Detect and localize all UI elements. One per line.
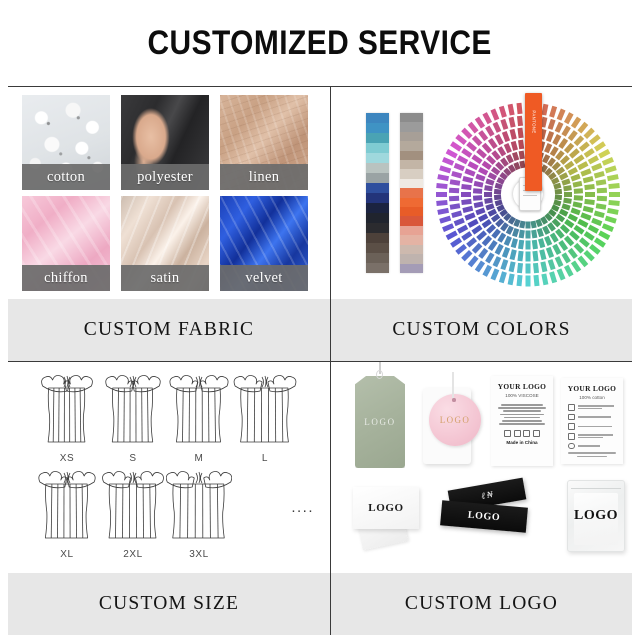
fan-chip [462, 205, 473, 212]
dress-figure-XL [34, 468, 100, 546]
ribbon-label: LOGO [467, 510, 500, 524]
polybag-label: LOGO [574, 508, 618, 524]
fan-chip [580, 168, 591, 176]
color-chip-right-6 [400, 169, 423, 178]
fabric-swatch-linen[interactable]: linen [220, 95, 308, 190]
fan-chip [526, 221, 531, 228]
fan-chip [563, 185, 572, 191]
fan-chip [442, 156, 454, 165]
fan-chip [541, 273, 548, 285]
fan-chip [500, 118, 508, 129]
fan-chip [451, 210, 462, 217]
size-caption-label: CUSTOM SIZE [99, 593, 239, 615]
fabric-caption-band: CUSTOM FABRIC [8, 299, 330, 361]
size-panel-body: XSSML XL2XL3XL .... [8, 362, 330, 574]
fan-chip [473, 195, 482, 201]
panel-custom-size: XSSML XL2XL3XL .... CUSTOM SIZE [8, 361, 330, 635]
fabric-label-band: polyester [121, 164, 209, 190]
color-chip-right-11 [400, 216, 423, 225]
fabric-swatch-velvet[interactable]: velvet [220, 196, 308, 291]
color-chip-right-0 [400, 113, 423, 122]
color-chip-left-5 [366, 163, 389, 173]
fan-chip [519, 229, 525, 238]
panel-custom-fabric: cottonpolyesterlinenchiffonsatinvelvet C… [8, 87, 330, 361]
color-chip-left-6 [366, 173, 389, 183]
size-more-indicator: .... [291, 499, 314, 516]
fan-chip [454, 162, 465, 170]
fan-chip [607, 174, 619, 181]
fan-chip [461, 192, 471, 197]
care-label-1-subtitle: 100% VISCOSE [495, 393, 549, 398]
hangtag-green: LOGO [355, 376, 405, 468]
fan-chip [494, 194, 501, 200]
fabric-name-text: velvet [245, 270, 282, 287]
fan-chip [526, 275, 531, 286]
hangtag-hole-icon [376, 370, 383, 379]
size-option-M[interactable]: M [166, 372, 232, 464]
fan-chip [516, 274, 522, 285]
no-bleach-icon [568, 414, 575, 421]
fan-chip [461, 198, 472, 204]
fan-chip [526, 251, 531, 261]
ribbon-script-mark: ℓ ₦ [480, 489, 493, 501]
dress-figure-2XL [100, 468, 166, 546]
color-chip-right-7 [400, 179, 423, 188]
dry-clean-icon [568, 443, 575, 450]
color-chip-left-14 [366, 253, 389, 263]
fan-chip [609, 192, 620, 197]
fan-chip [563, 197, 572, 203]
fan-chip [517, 127, 523, 138]
fabric-label-band: velvet [220, 265, 308, 291]
black-ribbon-bottom: LOGO [440, 500, 528, 532]
roundtag-string [452, 372, 454, 398]
logo-caption-band: CUSTOM LOGO [331, 573, 632, 635]
care-label-2-title: YOUR LOGO [565, 384, 619, 393]
color-chip-left-3 [366, 143, 389, 153]
fan-chip [509, 261, 516, 272]
fan-chip [555, 194, 562, 200]
size-option-L[interactable]: L [232, 372, 298, 464]
care-label-1-origin: Made in China [495, 440, 549, 445]
fan-chip [437, 207, 449, 214]
size-label-text: XL [34, 549, 100, 560]
care-label-cotton: YOUR LOGO 100% cotton [561, 378, 623, 464]
fan-chip [573, 201, 583, 208]
fabric-swatch-polyester[interactable]: polyester [121, 95, 209, 190]
fan-chip [540, 261, 547, 272]
fabric-name-text: polyester [137, 169, 193, 186]
fan-chip [482, 264, 492, 276]
color-chip-left-4 [366, 153, 389, 163]
panel-custom-logo: LOGO LOGO YOUR LOGO 100% VISCOSE [330, 361, 632, 635]
fan-chip [549, 105, 557, 117]
fan-chip [499, 105, 507, 117]
fabric-name-text: linen [249, 169, 280, 186]
fan-chip [510, 128, 517, 139]
fan-chip [541, 103, 548, 115]
fan-chip [526, 230, 531, 238]
color-chip-left-9 [366, 203, 389, 213]
logo-branding-illustration: LOGO LOGO YOUR LOGO 100% VISCOSE [331, 362, 632, 574]
color-chip-right-15 [400, 254, 423, 263]
fabric-swatch-satin[interactable]: satin [121, 196, 209, 291]
color-chip-left-1 [366, 123, 389, 133]
fan-chip [539, 249, 546, 260]
iron-icon [568, 433, 575, 440]
roundtag-hole-icon [452, 398, 456, 402]
size-row-2: XL2XL3XL [34, 468, 232, 560]
fan-chip [597, 195, 607, 201]
fan-chip [482, 112, 492, 124]
envelope-label: LOGO [368, 502, 403, 514]
logo-caption-label: CUSTOM LOGO [405, 593, 558, 615]
fabric-swatch-grid: cottonpolyesterlinenchiffonsatinvelvet [22, 95, 316, 293]
size-chart-illustration: XSSML XL2XL3XL .... [8, 362, 330, 574]
color-swatch-strip-left [366, 113, 389, 273]
color-chip-left-11 [366, 223, 389, 233]
color-chip-left-0 [366, 113, 389, 123]
size-option-2XL[interactable]: 2XL [100, 468, 166, 560]
fan-chip [509, 116, 516, 127]
poly-bag-packaging: LOGO [567, 480, 625, 552]
fan-chip [605, 215, 617, 223]
fan-chip [518, 239, 524, 249]
service-panel-grid: cottonpolyesterlinenchiffonsatinvelvet C… [8, 86, 632, 634]
colors-caption-band: CUSTOM COLORS [331, 299, 632, 361]
fan-chip [511, 140, 518, 150]
color-chip-right-8 [400, 188, 423, 197]
fan-chip [585, 192, 595, 197]
care-label-2-instructions [565, 404, 619, 449]
fan-chip [549, 271, 557, 283]
fan-chip [439, 215, 451, 223]
fan-chip [449, 187, 459, 193]
fan-chip [608, 182, 619, 188]
color-chip-right-4 [400, 151, 423, 160]
fan-chip [510, 249, 517, 260]
size-row-1: XSSML [34, 372, 298, 464]
page-header: CUSTOMIZED SERVICE [0, 0, 640, 86]
fan-chip [508, 103, 515, 115]
customized-service-infographic: CUSTOMIZED SERVICE cottonpolyesterlinenc… [0, 0, 640, 640]
color-swatch-strip-right [400, 113, 423, 273]
size-caption-band: CUSTOM SIZE [8, 573, 330, 635]
color-chip-right-5 [400, 160, 423, 169]
roundtag-pink: LOGO [429, 394, 481, 446]
colors-panel-body: PANTONE [331, 87, 632, 299]
dress-figure-M [166, 372, 232, 450]
fan-chip [502, 130, 510, 141]
care-label-2-footer [565, 452, 619, 457]
fan-chip [580, 212, 591, 220]
fan-card-text: PANTONE [531, 111, 536, 134]
fan-chip [584, 198, 595, 204]
fan-chip [474, 201, 484, 208]
page-title: CUSTOMIZED SERVICE [148, 24, 492, 63]
color-chip-right-16 [400, 264, 423, 273]
fan-chip [450, 179, 461, 186]
fabric-swatch-cotton[interactable]: cotton [22, 95, 110, 190]
fan-chip [516, 102, 522, 113]
fan-chip [583, 205, 594, 212]
fabric-swatch-chiffon[interactable]: chiffon [22, 196, 110, 291]
fan-chip [454, 217, 465, 225]
size-option-S[interactable]: S [100, 372, 166, 464]
fan-chip [490, 268, 499, 280]
fan-chip [591, 217, 602, 225]
fan-chip [598, 148, 610, 158]
wash-icon [568, 404, 575, 411]
fan-chip [517, 262, 523, 272]
fan-chip [555, 188, 562, 194]
fan-chip [442, 223, 454, 232]
color-fan-illustration: PANTONE [331, 87, 632, 299]
care-label-2-subtitle: 100% cotton [565, 395, 619, 400]
dress-figure-XS [34, 372, 100, 450]
care-symbol-icons [495, 430, 549, 437]
fan-chip [532, 250, 538, 261]
fan-chip [557, 108, 566, 120]
hangtag-label: LOGO [364, 417, 395, 427]
fan-chip [602, 223, 614, 232]
fan-chip [583, 176, 594, 183]
color-chip-right-1 [400, 122, 423, 131]
care-label-viscose: YOUR LOGO 100% VISCOSE Made in China [491, 376, 553, 466]
fan-chip [508, 273, 515, 285]
fabric-name-text: satin [151, 270, 180, 287]
fan-chip [526, 263, 531, 273]
fan-chip [597, 187, 607, 193]
color-chip-right-2 [400, 132, 423, 141]
size-label-text: L [232, 453, 298, 464]
fan-chip [517, 115, 523, 125]
fan-chip [436, 199, 447, 205]
fan-chip [574, 188, 583, 194]
pantone-fan-deck: PANTONE [433, 99, 623, 289]
dress-figure-L [232, 372, 298, 450]
fan-chip [564, 192, 572, 197]
fan-chip [602, 156, 614, 165]
fan-chip [573, 180, 583, 187]
fan-chip [596, 179, 607, 186]
fan-chip [533, 274, 539, 285]
color-chip-right-14 [400, 245, 423, 254]
fan-chip [439, 165, 451, 173]
color-chip-left-13 [366, 243, 389, 253]
color-chip-right-3 [400, 141, 423, 150]
size-label-text: XS [34, 453, 100, 464]
fan-chip [605, 165, 617, 173]
size-label-text: 2XL [100, 549, 166, 560]
fan-chip [493, 121, 502, 132]
care-label-1-title: YOUR LOGO [495, 382, 549, 391]
fabric-name-text: chiffon [44, 270, 88, 287]
fan-chip [500, 259, 508, 270]
fabric-label-band: linen [220, 164, 308, 190]
colors-caption-label: CUSTOM COLORS [392, 319, 570, 341]
fan-chip [588, 224, 599, 233]
color-chip-right-9 [400, 198, 423, 207]
logo-card-envelope: LOGO [353, 487, 419, 529]
fan-chip [608, 199, 619, 205]
size-label-text: M [166, 453, 232, 464]
fan-chip [557, 268, 566, 280]
fan-chip [519, 150, 525, 159]
size-option-XL[interactable]: XL [34, 468, 100, 560]
size-label-text: S [100, 453, 166, 464]
fan-chip [493, 256, 502, 267]
fan-chip [548, 118, 556, 129]
fan-chip [484, 192, 492, 197]
fan-chip [532, 239, 538, 249]
care-label-1-instructions [495, 404, 549, 425]
fan-chip [449, 195, 459, 201]
fan-chip [473, 188, 482, 194]
fan-chip [591, 162, 602, 170]
size-label-text: 3XL [166, 549, 232, 560]
fan-chip [511, 238, 518, 248]
fan-chip [462, 176, 473, 183]
color-chip-left-2 [366, 133, 389, 143]
color-chip-left-7 [366, 183, 389, 193]
fan-highlight-card: PANTONE [525, 93, 542, 191]
color-chip-left-10 [366, 213, 389, 223]
fabric-name-text: cotton [47, 169, 85, 186]
fan-chip [436, 182, 447, 188]
fabric-caption-label: CUSTOM FABRIC [84, 319, 254, 341]
fabric-label-band: cotton [22, 164, 110, 190]
fan-chip [436, 192, 447, 197]
fan-chip [450, 203, 461, 210]
color-chip-right-10 [400, 207, 423, 216]
color-chip-left-15 [366, 263, 389, 273]
fan-chip [574, 195, 583, 201]
fan-chip [518, 139, 524, 149]
fan-chip [594, 170, 605, 177]
fabric-label-band: chiffon [22, 265, 110, 291]
fan-chip [451, 170, 462, 177]
fan-chip [548, 259, 556, 270]
dress-figure-S [100, 372, 166, 450]
logo-panel-body: LOGO LOGO YOUR LOGO 100% VISCOSE [331, 362, 632, 574]
fan-chip [533, 262, 539, 272]
roundtag-label: LOGO [440, 415, 471, 425]
fan-chip [499, 271, 507, 283]
dress-figure-3XL [166, 468, 232, 546]
color-chip-right-13 [400, 235, 423, 244]
size-option-3XL[interactable]: 3XL [166, 468, 232, 560]
panel-custom-colors: PANTONE CUSTOM COLORS [330, 87, 632, 361]
fan-chip [461, 183, 472, 189]
fan-chip [584, 183, 595, 189]
fan-chip [474, 180, 484, 187]
fan-chip [588, 155, 599, 164]
fan-chip [526, 240, 531, 249]
fan-chip [484, 197, 493, 203]
fan-chip [517, 250, 523, 261]
fan-chip [594, 210, 605, 217]
color-chip-right-12 [400, 226, 423, 235]
color-chip-left-12 [366, 233, 389, 243]
color-chip-left-8 [366, 193, 389, 203]
fan-chip [596, 203, 607, 210]
fan-chip [502, 246, 510, 257]
fan-chip [607, 207, 619, 214]
fan-chip [437, 174, 449, 181]
size-option-XS[interactable]: XS [34, 372, 100, 464]
fabric-label-band: satin [121, 265, 209, 291]
fan-chip [598, 230, 610, 240]
no-tumble-dry-icon [568, 423, 575, 430]
fan-chip [490, 108, 499, 120]
fabric-panel-body: cottonpolyesterlinenchiffonsatinvelvet [8, 87, 330, 299]
